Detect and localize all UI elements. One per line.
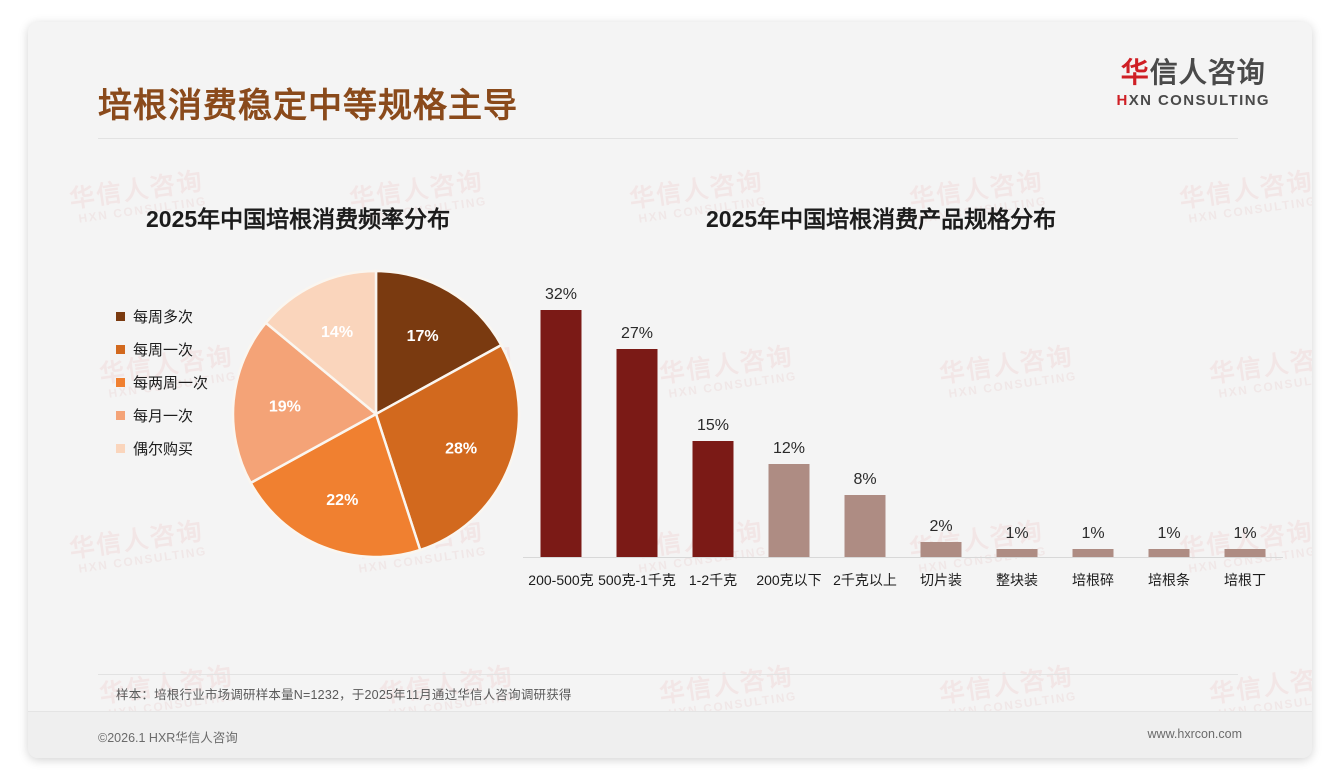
slide-canvas: 华信人咨询HXN CONSULTING华信人咨询HXN CONSULTING华信… — [28, 22, 1312, 758]
bottom-bar: ©2026.1 HXR华信人咨询 www.hxrcon.com — [28, 711, 1312, 758]
bar-value-label: 1% — [979, 525, 1055, 543]
footnote-text: 样本：培根行业市场调研样本量N=1232，于2025年11月通过华信人咨询调研获… — [98, 684, 1238, 703]
bar-value-label: 1% — [1131, 525, 1207, 543]
bar-axis-line — [523, 557, 1283, 558]
bar-rect[interactable] — [1073, 549, 1114, 557]
footnote-divider — [98, 674, 1238, 675]
legend-swatch-icon — [116, 378, 125, 387]
bar-column[interactable]: 32%200-500克 — [523, 252, 599, 557]
copyright-text: ©2026.1 HXR华信人咨询 — [98, 727, 238, 746]
bar-value-label: 15% — [675, 417, 751, 435]
bar-value-label: 12% — [751, 440, 827, 458]
bar-rect[interactable] — [693, 441, 734, 557]
logo-en-rest: XN CONSULTING — [1129, 92, 1270, 109]
logo-accent-char: 华 — [1121, 57, 1150, 88]
bar-rect[interactable] — [541, 310, 582, 557]
pie-chart-title: 2025年中国培根消费频率分布 — [146, 200, 450, 234]
bar-value-label: 32% — [523, 286, 599, 304]
slide-header: 培根消费稳定中等规格主导 华信人咨询 HXN CONSULTING — [28, 22, 1312, 142]
bar-column[interactable]: 1%培根碎 — [1055, 252, 1131, 557]
bar-chart-title: 2025年中国培根消费产品规格分布 — [706, 200, 1056, 234]
bar-column[interactable]: 1%培根条 — [1131, 252, 1207, 557]
bar-rect[interactable] — [617, 349, 658, 557]
logo-english: HXN CONSULTING — [1117, 92, 1271, 109]
pie-slice-label: 22% — [326, 492, 358, 509]
legend-label: 每周一次 — [133, 339, 193, 360]
legend-label: 偶尔购买 — [133, 438, 193, 459]
legend-label: 每两周一次 — [133, 372, 208, 393]
bar-rect[interactable] — [1225, 549, 1266, 557]
legend-swatch-icon — [116, 444, 125, 453]
bar-value-label: 1% — [1207, 525, 1283, 543]
bar-value-label: 2% — [903, 518, 979, 536]
legend-label: 每周多次 — [133, 306, 193, 327]
bar-column[interactable]: 1%培根丁 — [1207, 252, 1283, 557]
logo-chinese: 华信人咨询 — [1117, 58, 1271, 89]
pie-slice-label: 28% — [445, 441, 477, 458]
bar-category-label: 培根丁 — [1198, 570, 1292, 590]
legend-swatch-icon — [116, 411, 125, 420]
bar-rect[interactable] — [921, 542, 962, 557]
bar-value-label: 8% — [827, 471, 903, 489]
legend-swatch-icon — [116, 345, 125, 354]
bar-column[interactable]: 15%1-2千克 — [675, 252, 751, 557]
bar-value-label: 1% — [1055, 525, 1131, 543]
pie-slice-label: 19% — [269, 398, 301, 415]
bar-column[interactable]: 1%整块装 — [979, 252, 1055, 557]
pie-graphic: 17%28%22%19%14% — [226, 264, 526, 564]
bar-plot-area: 32%200-500克27%500克-1千克15%1-2千克12%200克以下8… — [523, 252, 1283, 557]
pie-chart: 每周多次每周一次每两周一次每月一次偶尔购买 17%28%22%19%14% — [68, 252, 538, 582]
charts-area: 2025年中国培根消费频率分布 2025年中国培根消费产品规格分布 每周多次每周… — [28, 172, 1312, 642]
bar-rect[interactable] — [845, 495, 886, 557]
bar-column[interactable]: 27%500克-1千克 — [599, 252, 675, 557]
pie-slice-label: 14% — [321, 324, 353, 341]
logo-chinese-rest: 信人咨询 — [1150, 57, 1266, 88]
bar-column[interactable]: 2%切片装 — [903, 252, 979, 557]
bar-rect[interactable] — [1149, 549, 1190, 557]
bar-rect[interactable] — [769, 464, 810, 557]
pie-slice-label: 17% — [407, 328, 439, 345]
legend-label: 每月一次 — [133, 405, 193, 426]
bar-chart: 32%200-500克27%500克-1千克15%1-2千克12%200克以下8… — [523, 252, 1283, 632]
page-title: 培根消费稳定中等规格主导 — [98, 78, 518, 127]
company-logo: 华信人咨询 HXN CONSULTING — [1117, 58, 1271, 109]
bar-rect[interactable] — [997, 549, 1038, 557]
header-divider — [98, 138, 1238, 139]
bar-column[interactable]: 8%2千克以上 — [827, 252, 903, 557]
bar-column[interactable]: 12%200克以下 — [751, 252, 827, 557]
website-link[interactable]: www.hxrcon.com — [1148, 727, 1242, 741]
footnote: 样本：培根行业市场调研样本量N=1232，于2025年11月通过华信人咨询调研获… — [98, 674, 1238, 703]
legend-swatch-icon — [116, 312, 125, 321]
logo-en-accent: H — [1117, 92, 1129, 109]
bar-value-label: 27% — [599, 325, 675, 343]
